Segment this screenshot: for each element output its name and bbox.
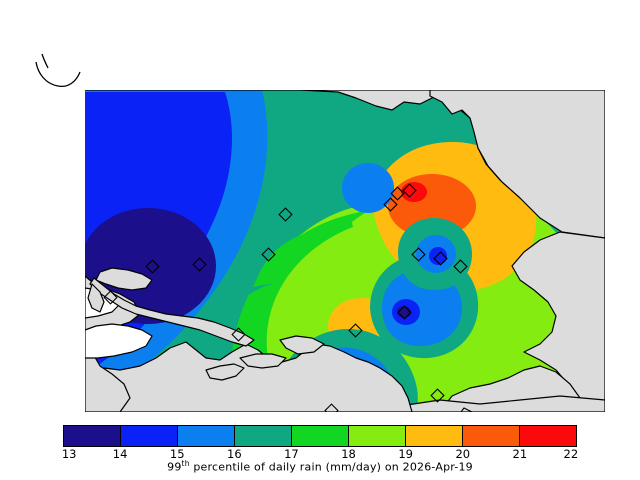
colorbar-band-17-18 [292,426,349,446]
colorbar-band-18-19 [349,426,406,446]
colorbar-caption: 99th percentile of daily rain (mm/day) o… [0,459,640,474]
margin-bottom-mask [0,412,640,415]
caption-text: percentile of daily rain (mm/day) on 202… [190,461,473,474]
caption-value: 99 [167,461,181,474]
margin-right-mask [605,40,640,415]
colorbar [63,425,577,447]
margin-left-mask [0,40,85,415]
caption-ordinal: th [182,459,190,468]
contour-map [0,40,640,415]
colorbar-band-21-22 [520,426,576,446]
contour-map-svg [0,40,640,415]
contour-band-15-16-north-blob [342,163,394,213]
colorbar-band-13-14 [64,426,121,446]
colorbar-band-16-17 [235,426,292,446]
margin-top-mask [0,40,640,90]
weather-figure: VictoriaWeather.ca -- Summer Total Daily… [0,0,640,480]
colorbar-band-19-20 [406,426,463,446]
colorbar-band-20-21 [463,426,520,446]
colorbar-band-15-16 [178,426,235,446]
colorbar-band-14-15 [121,426,178,446]
